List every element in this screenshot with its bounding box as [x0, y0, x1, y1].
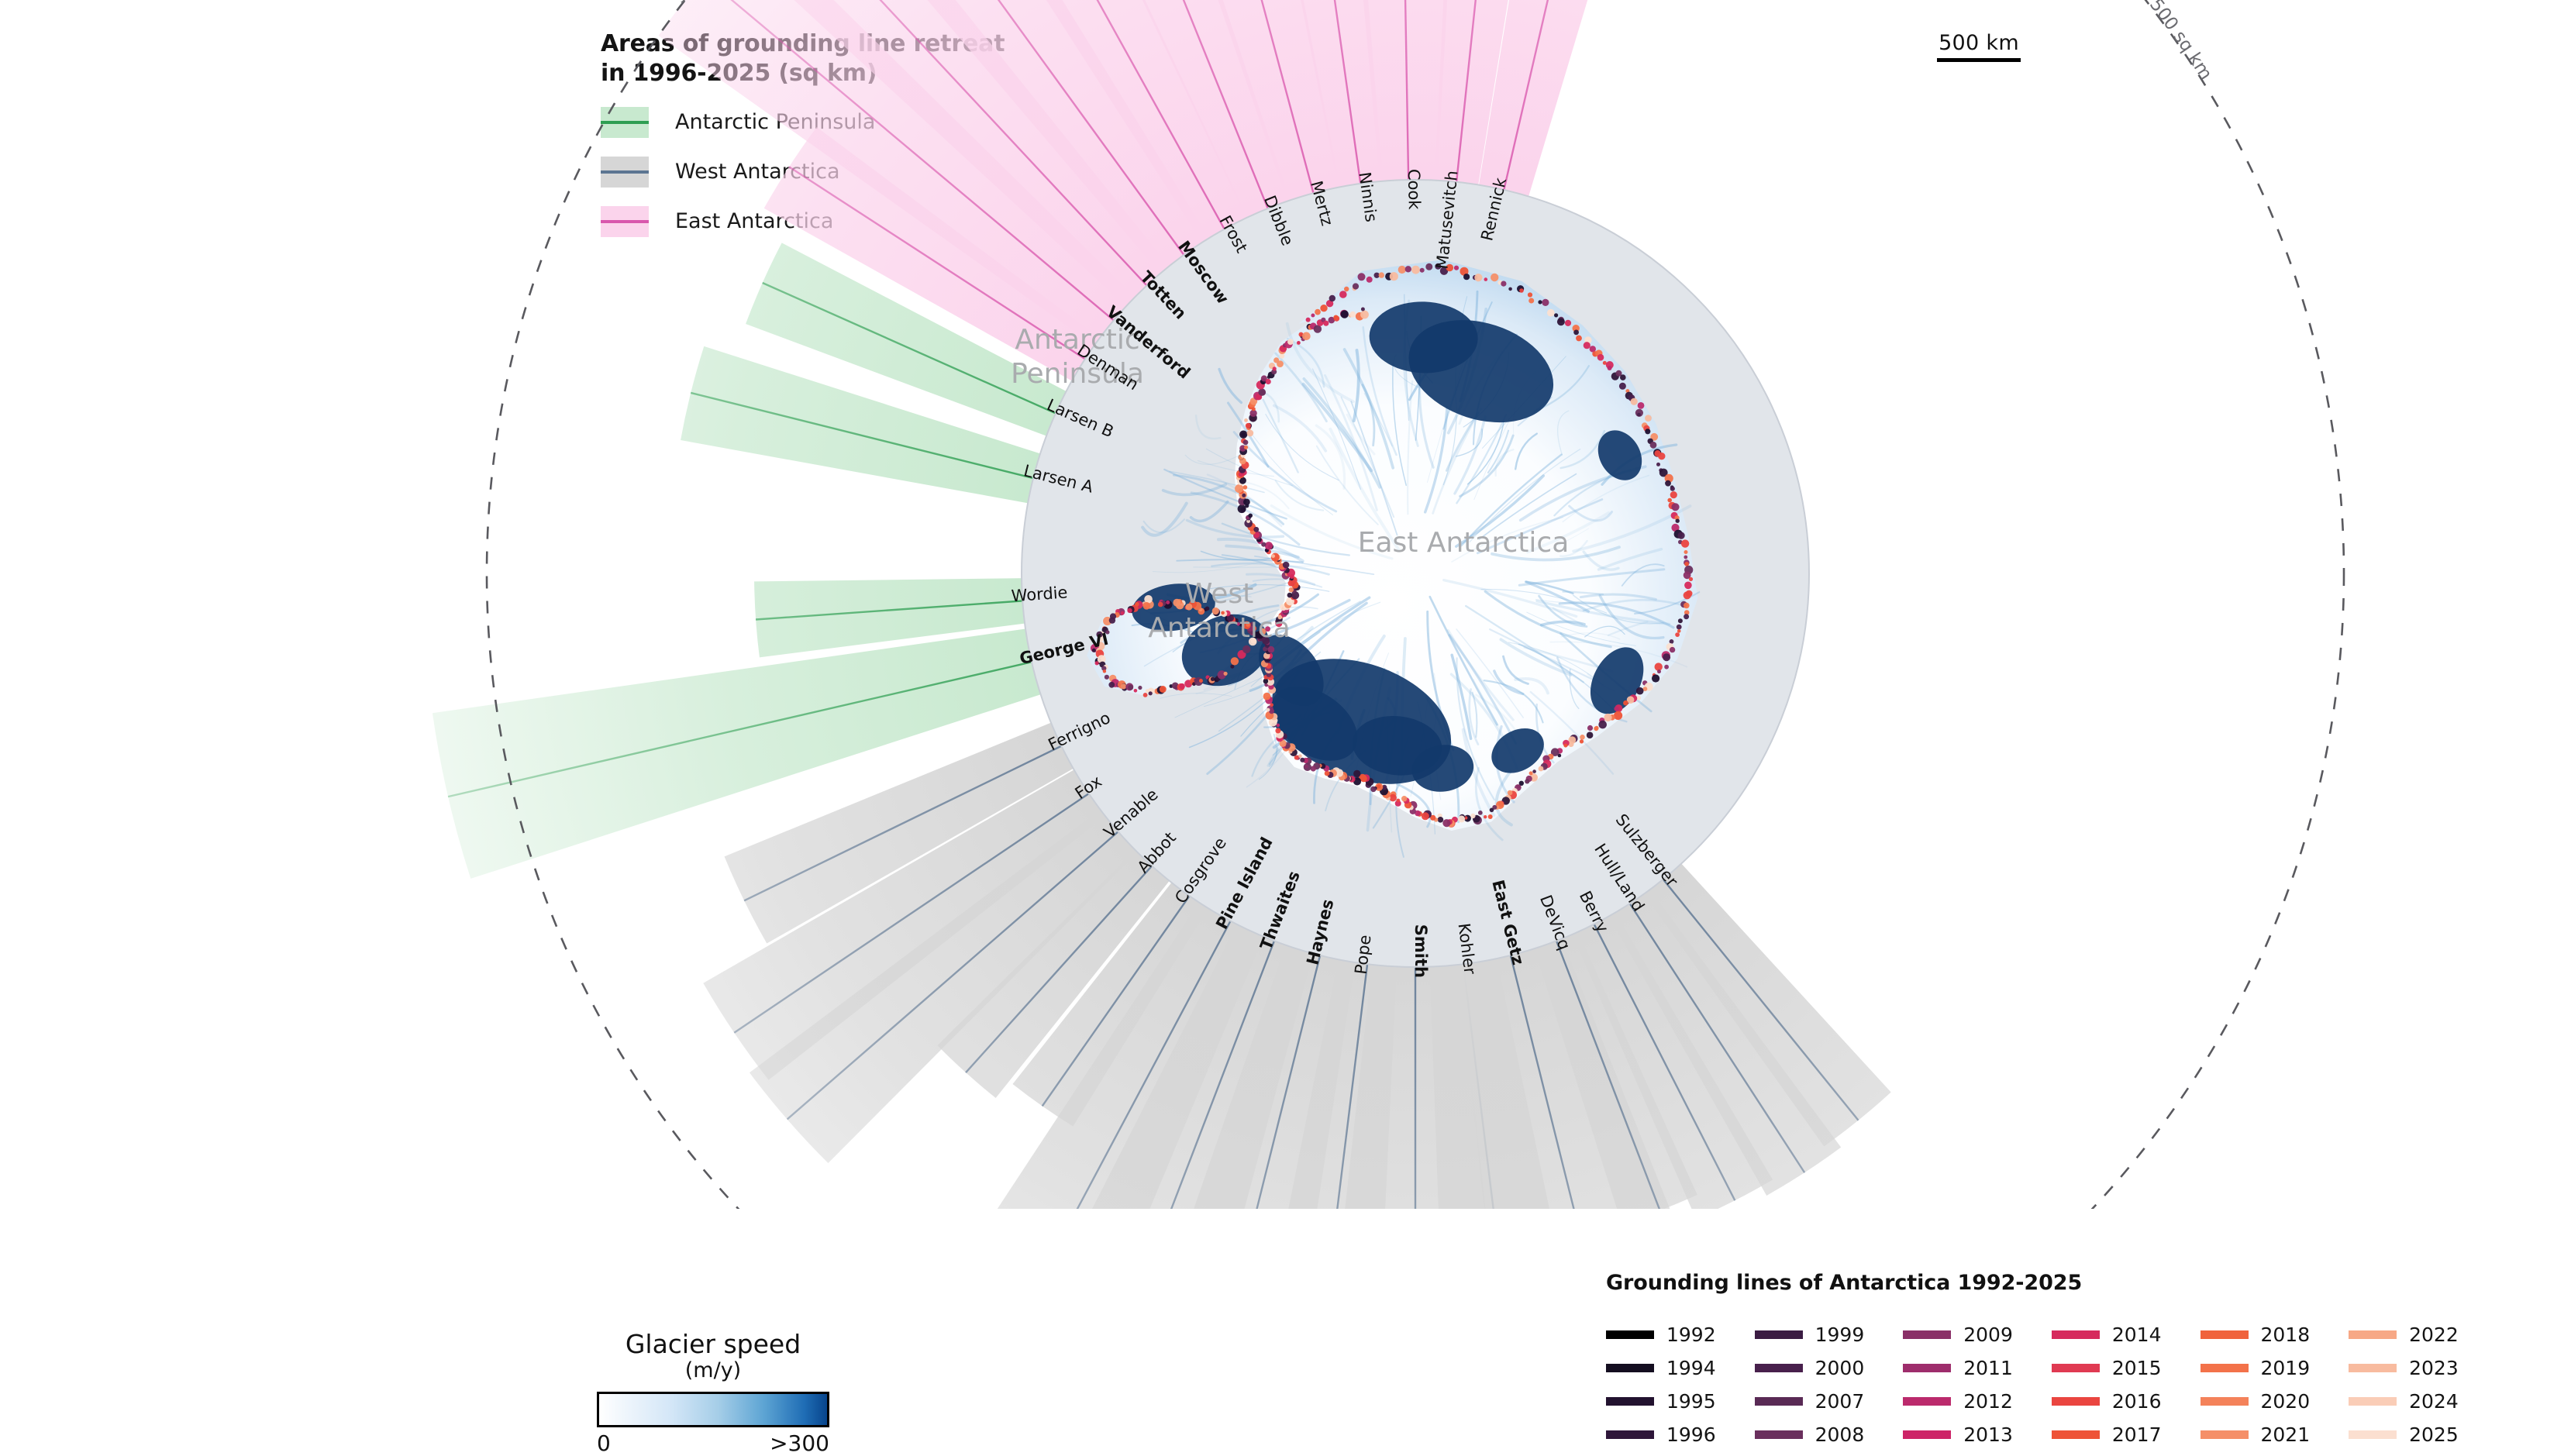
ring-annotation: 500 sq km: [2145, 0, 2216, 84]
year-label: 2020: [2261, 1390, 2311, 1413]
year-label: 2022: [2409, 1323, 2459, 1346]
year-legend-item: 1994: [1606, 1351, 1716, 1385]
speed-title-text: Glacier speed: [626, 1329, 801, 1359]
year-color-swatch: [1606, 1330, 1654, 1339]
year-legend-item: 1996: [1606, 1418, 1716, 1451]
year-legend-title: Grounding lines of Antarctica 1992-2025: [1606, 1271, 2459, 1295]
year-legend-item: 2012: [1903, 1385, 2013, 1418]
year-legend-item: 2023: [2349, 1351, 2459, 1385]
year-label: 2021: [2261, 1423, 2311, 1446]
year-legend-item: 2018: [2201, 1318, 2311, 1351]
year-label: 2000: [1815, 1357, 1865, 1379]
glacier-speed-colorbar: Glacier speed (m/y) 0 >300: [597, 1331, 829, 1456]
year-color-swatch: [2349, 1397, 2397, 1406]
glacier-label: Cook: [1404, 169, 1424, 211]
year-color-swatch: [1606, 1397, 1654, 1406]
radial-retreat-figure: 500 sq km500 sq km500 sq kmAntarcticPeni…: [0, 0, 2571, 1209]
year-label: 2014: [2112, 1323, 2162, 1346]
speed-units-text: (m/y): [597, 1360, 829, 1382]
year-legend-item: 2021: [2201, 1418, 2311, 1451]
year-label: 2015: [2112, 1357, 2162, 1379]
year-legend-item: 1992: [1606, 1318, 1716, 1351]
speed-max-label: >300: [770, 1430, 829, 1456]
year-legend-column: 2022202320242025: [2349, 1318, 2459, 1451]
year-legend-column: 1992199419951996: [1606, 1318, 1716, 1451]
year-label: 2013: [1963, 1423, 2013, 1446]
year-label: 2008: [1815, 1423, 1865, 1446]
year-legend-item: 2015: [2052, 1351, 2162, 1385]
year-legend-column: 2018201920202021: [2201, 1318, 2311, 1451]
year-legend-item: 2022: [2349, 1318, 2459, 1351]
year-label: 1992: [1666, 1323, 1716, 1346]
speed-min-label: 0: [597, 1430, 611, 1456]
year-color-swatch: [1903, 1397, 1951, 1406]
year-legend-item: 2025: [2349, 1418, 2459, 1451]
year-legend-item: 2009: [1903, 1318, 2013, 1351]
year-legend-item: 2007: [1755, 1385, 1865, 1418]
glacier-label: Wordie: [1011, 583, 1068, 605]
year-color-swatch: [2349, 1430, 2397, 1439]
year-color-swatch: [1903, 1364, 1951, 1372]
year-label: 2012: [1963, 1390, 2013, 1413]
year-label: 1994: [1666, 1357, 1716, 1379]
year-legend-item: 1999: [1755, 1318, 1865, 1351]
year-color-swatch: [2201, 1330, 2249, 1339]
year-color-swatch: [1755, 1364, 1803, 1372]
year-legend-column: 1999200020072008: [1755, 1318, 1865, 1451]
year-label: 2016: [2112, 1390, 2162, 1413]
year-label: 2025: [2409, 1423, 2459, 1446]
year-label: 2011: [1963, 1357, 2013, 1379]
year-label: 2018: [2261, 1323, 2311, 1346]
year-label: 1996: [1666, 1423, 1716, 1446]
year-color-swatch: [2201, 1430, 2249, 1439]
year-legend-item: 2020: [2201, 1385, 2311, 1418]
year-legend-item: 1995: [1606, 1385, 1716, 1418]
year-color-swatch: [1903, 1330, 1951, 1339]
year-legend-item: 2011: [1903, 1351, 2013, 1385]
year-legend-item: 2017: [2052, 1418, 2162, 1451]
year-legend-columns: 1992199419951996199920002007200820092011…: [1606, 1318, 2459, 1451]
year-color-swatch: [1755, 1330, 1803, 1339]
year-legend: Grounding lines of Antarctica 1992-2025 …: [1606, 1271, 2459, 1451]
year-legend-column: 2014201520162017: [2052, 1318, 2162, 1451]
year-color-swatch: [2052, 1330, 2100, 1339]
year-label: 1999: [1815, 1323, 1865, 1346]
year-color-swatch: [1755, 1430, 1803, 1439]
year-label: 2017: [2112, 1423, 2162, 1446]
map-region-label: East Antarctica: [1358, 527, 1570, 559]
year-legend-item: 2024: [2349, 1385, 2459, 1418]
year-legend-item: 2014: [2052, 1318, 2162, 1351]
year-color-swatch: [2052, 1397, 2100, 1406]
glacier-label: Smith: [1411, 924, 1430, 978]
year-legend-item: 2000: [1755, 1351, 1865, 1385]
year-legend-item: 2013: [1903, 1418, 2013, 1451]
speed-colorbar-title: Glacier speed (m/y): [597, 1331, 829, 1382]
year-legend-item: 2016: [2052, 1385, 2162, 1418]
year-label: 2024: [2409, 1390, 2459, 1413]
year-color-swatch: [2349, 1330, 2397, 1339]
year-label: 2023: [2409, 1357, 2459, 1379]
year-color-swatch: [2201, 1397, 2249, 1406]
year-label: 2019: [2261, 1357, 2311, 1379]
year-color-swatch: [2052, 1364, 2100, 1372]
year-color-swatch: [1606, 1364, 1654, 1372]
year-color-swatch: [1606, 1430, 1654, 1439]
year-color-swatch: [2349, 1364, 2397, 1372]
year-legend-item: 2008: [1755, 1418, 1865, 1451]
year-color-swatch: [1755, 1397, 1803, 1406]
year-label: 2009: [1963, 1323, 2013, 1346]
year-legend-item: 2019: [2201, 1351, 2311, 1385]
year-label: 1995: [1666, 1390, 1716, 1413]
year-legend-column: 2009201120122013: [1903, 1318, 2013, 1451]
year-color-swatch: [2052, 1430, 2100, 1439]
speed-gradient-ramp: [597, 1392, 829, 1427]
year-color-swatch: [1903, 1430, 1951, 1439]
year-label: 2007: [1815, 1390, 1865, 1413]
year-color-swatch: [2201, 1364, 2249, 1372]
